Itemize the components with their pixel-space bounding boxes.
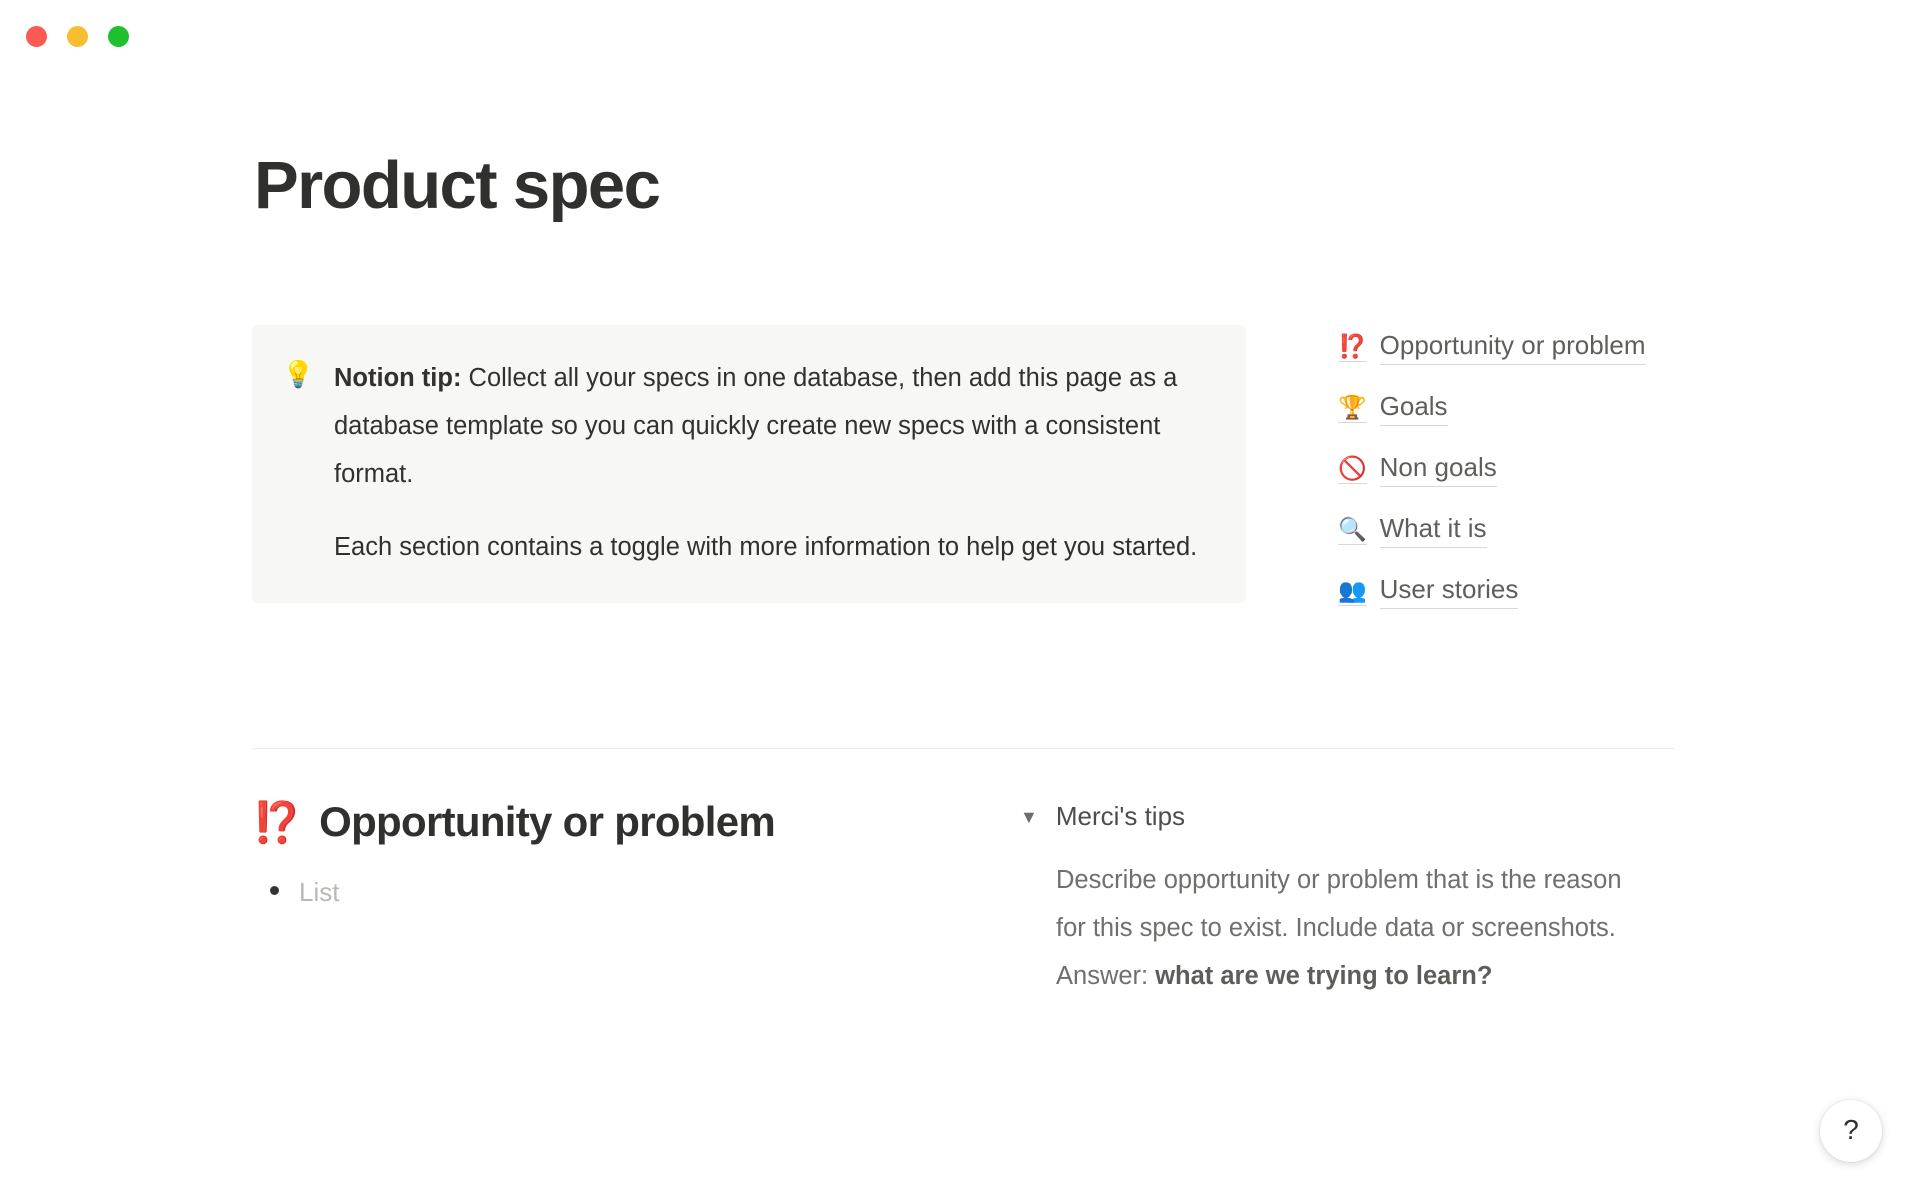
question-mark-icon: ? [1843,1116,1859,1144]
callout-tip-label: Notion tip: [334,364,461,392]
trophy-icon: 🏆 [1338,396,1367,423]
close-window-button[interactable] [26,26,47,47]
window-chrome [0,0,1920,72]
toggle-header[interactable]: ▼ Merci's tips [1020,798,1660,834]
toc-item-label: Goals [1380,391,1448,426]
toggle-content: Describe opportunity or problem that is … [1056,856,1656,1000]
toc-item-goals[interactable]: 🏆 Goals [1338,391,1448,426]
section-divider [252,748,1674,749]
toc-item-label: Opportunity or problem [1380,330,1646,365]
busts-in-silhouette-icon: 👥 [1338,579,1367,606]
toc-item-label: What it is [1380,513,1487,548]
prohibited-icon: 🚫 [1338,457,1367,484]
bulleted-list-item[interactable]: List [252,874,992,910]
chevron-down-icon[interactable]: ▼ [1020,808,1038,826]
help-button[interactable]: ? [1820,1100,1882,1162]
toc-item-what-it-is[interactable]: 🔍 What it is [1338,513,1487,548]
magnifying-glass-icon: 🔍 [1338,518,1367,545]
callout-paragraph-1: Notion tip: Collect all your specs in on… [334,354,1216,498]
page-title[interactable]: Product spec [254,150,659,221]
toggle-body-emphasis: what are we trying to learn? [1155,962,1492,990]
notion-tip-callout[interactable]: 💡 Notion tip: Collect all your specs in … [252,325,1246,603]
toc-item-label: Non goals [1380,452,1497,487]
toc-item-label: User stories [1380,574,1519,609]
exclamation-question-icon: ⁉️ [1338,335,1367,362]
callout-paragraph-1-rest: Collect all your specs in one database, … [334,364,1177,488]
traffic-light-group [26,26,129,47]
merci-tips-toggle: ▼ Merci's tips Describe opportunity or p… [1020,798,1660,1000]
minimize-window-button[interactable] [67,26,88,47]
table-of-contents: ⁉️ Opportunity or problem 🏆 Goals 🚫 Non … [1338,330,1738,635]
list-item-placeholder[interactable]: List [299,874,339,910]
light-bulb-icon: 💡 [282,354,312,571]
page-root: Product spec 💡 Notion tip: Collect all y… [0,0,1920,1200]
toc-item-user-stories[interactable]: 👥 User stories [1338,574,1518,609]
callout-body: Notion tip: Collect all your specs in on… [334,354,1216,571]
toc-item-non-goals[interactable]: 🚫 Non goals [1338,452,1497,487]
maximize-window-button[interactable] [108,26,129,47]
section-heading[interactable]: ⁉️ Opportunity or problem [252,798,992,846]
bullet-icon [270,886,279,895]
callout-paragraph-2: Each section contains a toggle with more… [334,523,1216,571]
section-opportunity-or-problem: ⁉️ Opportunity or problem List [252,798,992,910]
toggle-title: Merci's tips [1056,798,1185,834]
exclamation-question-icon: ⁉️ [252,803,301,843]
section-heading-label: Opportunity or problem [319,798,775,846]
toc-item-opportunity-or-problem[interactable]: ⁉️ Opportunity or problem [1338,330,1646,365]
